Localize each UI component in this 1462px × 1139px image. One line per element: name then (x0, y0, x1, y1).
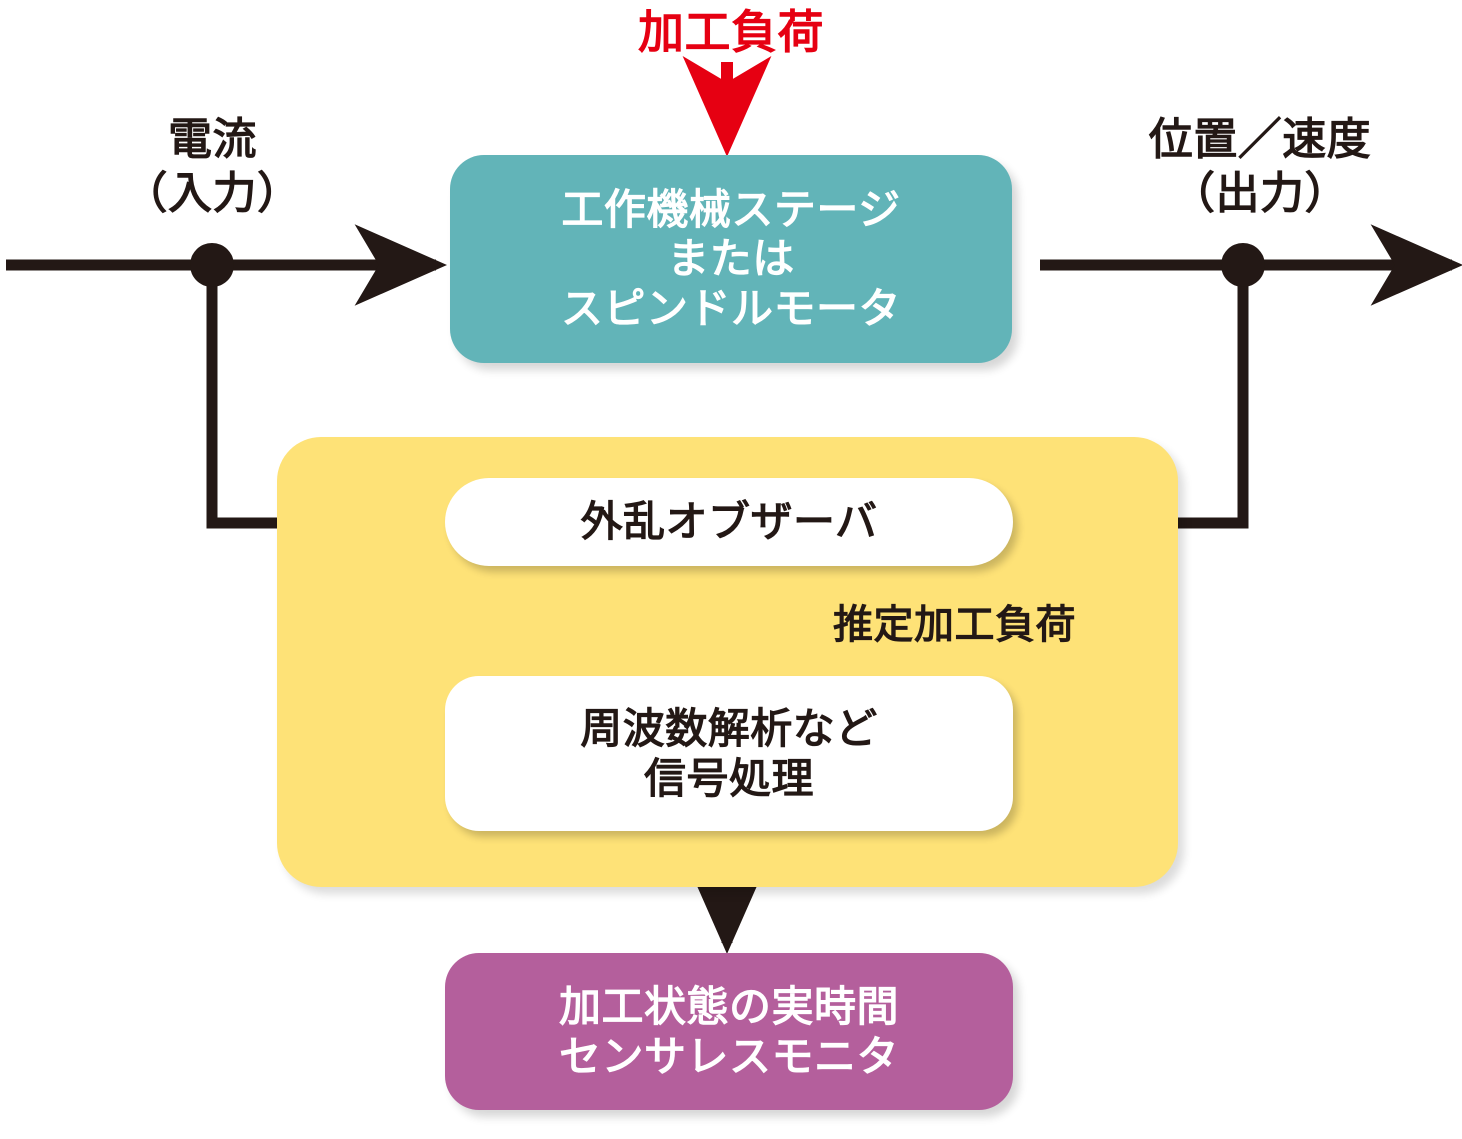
current-input-line1: 電流 (60, 113, 365, 167)
estimated-load-label: 推定加工負荷 (833, 601, 1076, 650)
plant-label-line1: 工作機械ステージ (561, 185, 900, 235)
diagram-canvas: 工作機械ステージ または スピンドルモータ 外乱オブザーバ 周波数解析など 信号… (0, 0, 1462, 1139)
sensorless-monitor-block[interactable]: 加工状態の実時間 センサレスモニタ (445, 953, 1013, 1110)
estimated-load-text: 推定加工負荷 (833, 601, 1076, 650)
output-line1: 位置／速度 (1100, 113, 1420, 167)
machining-load-text: 加工負荷 (0, 4, 1462, 60)
plant-block[interactable]: 工作機械ステージ または スピンドルモータ (450, 155, 1012, 363)
signal-label-line1: 周波数解析など (580, 704, 878, 754)
monitor-label-line1: 加工状態の実時間 (559, 982, 899, 1032)
observer-label: 外乱オブザーバ (580, 497, 877, 547)
current-input-label: 電流 （入力） (60, 113, 365, 220)
signal-label-line2: 信号処理 (644, 754, 814, 804)
disturbance-observer-block[interactable]: 外乱オブザーバ (445, 478, 1013, 566)
position-velocity-output-label: 位置／速度 （出力） (1100, 113, 1420, 220)
plant-label-line3: スピンドルモータ (561, 284, 901, 334)
monitor-label-line2: センサレスモニタ (559, 1032, 899, 1082)
output-line2: （出力） (1100, 167, 1420, 221)
signal-processing-block[interactable]: 周波数解析など 信号処理 (445, 676, 1013, 831)
current-input-line2: （入力） (60, 167, 365, 221)
plant-label-line2: または (667, 234, 795, 284)
junction-dot-output (1221, 243, 1265, 287)
junction-dot-input (190, 243, 234, 287)
machining-load-label: 加工負荷 (0, 4, 1462, 60)
